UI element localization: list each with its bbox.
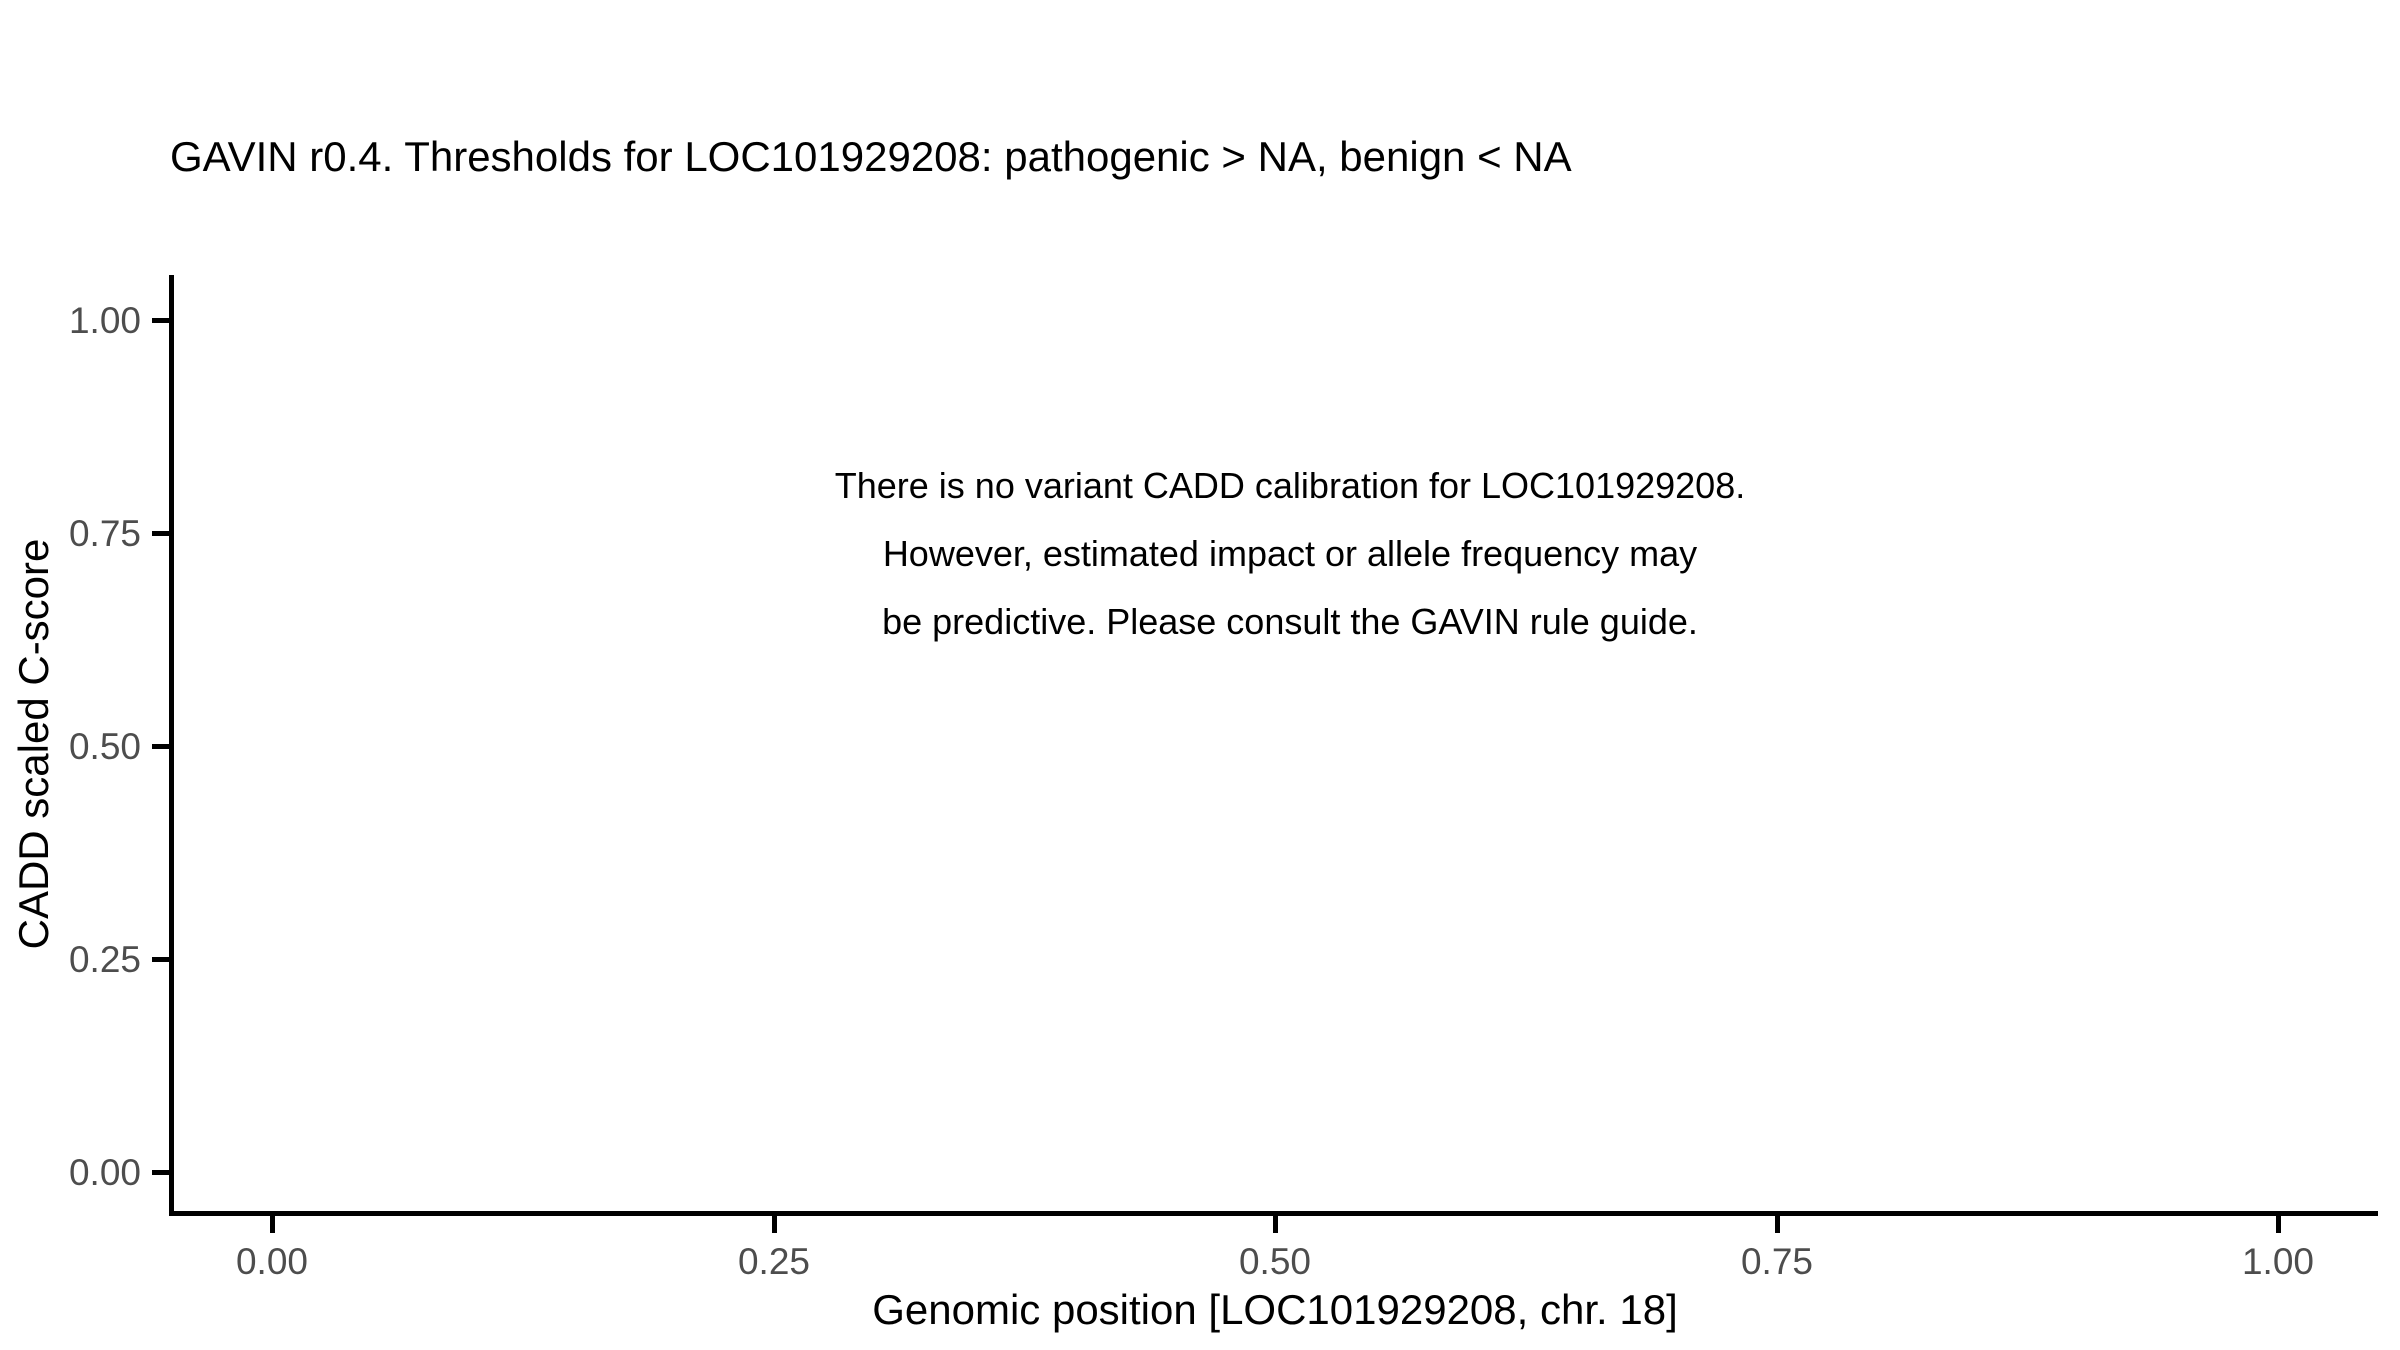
x-axis-title: Genomic position [LOC101929208, chr. 18] xyxy=(172,1286,2378,1334)
panel-message-line-1: There is no variant CADD calibration for… xyxy=(290,452,2290,520)
x-tick-label-0.25: 0.25 xyxy=(624,1243,924,1280)
y-tick-mark-0.50 xyxy=(152,744,169,749)
y-tick-mark-0.00 xyxy=(152,1170,169,1175)
y-axis-line xyxy=(169,275,174,1216)
x-tick-mark-0.50 xyxy=(1273,1216,1278,1233)
y-tick-mark-1.00 xyxy=(152,318,169,323)
panel-message: There is no variant CADD calibration for… xyxy=(290,452,2290,656)
x-tick-mark-0.25 xyxy=(772,1216,777,1233)
x-tick-mark-0.00 xyxy=(270,1216,275,1233)
panel-message-line-2: However, estimated impact or allele freq… xyxy=(290,520,2290,588)
y-tick-mark-0.75 xyxy=(152,531,169,536)
chart-title-line-1: GAVIN r0.4. Thresholds for LOC101929208:… xyxy=(170,128,2270,186)
plot-panel xyxy=(172,275,2378,1213)
x-tick-mark-0.75 xyxy=(1775,1216,1780,1233)
chart-canvas: GAVIN r0.4. Thresholds for LOC101929208:… xyxy=(0,0,2400,1350)
y-tick-mark-0.25 xyxy=(152,957,169,962)
y-axis-title: CADD scaled C-score xyxy=(10,275,58,1213)
panel-message-line-3: be predictive. Please consult the GAVIN … xyxy=(290,588,2290,656)
x-tick-mark-1.00 xyxy=(2276,1216,2281,1233)
x-tick-label-0.50: 0.50 xyxy=(1125,1243,1425,1280)
x-tick-label-1.00: 1.00 xyxy=(2128,1243,2400,1280)
x-tick-label-0.75: 0.75 xyxy=(1627,1243,1927,1280)
x-tick-label-0.00: 0.00 xyxy=(122,1243,422,1280)
